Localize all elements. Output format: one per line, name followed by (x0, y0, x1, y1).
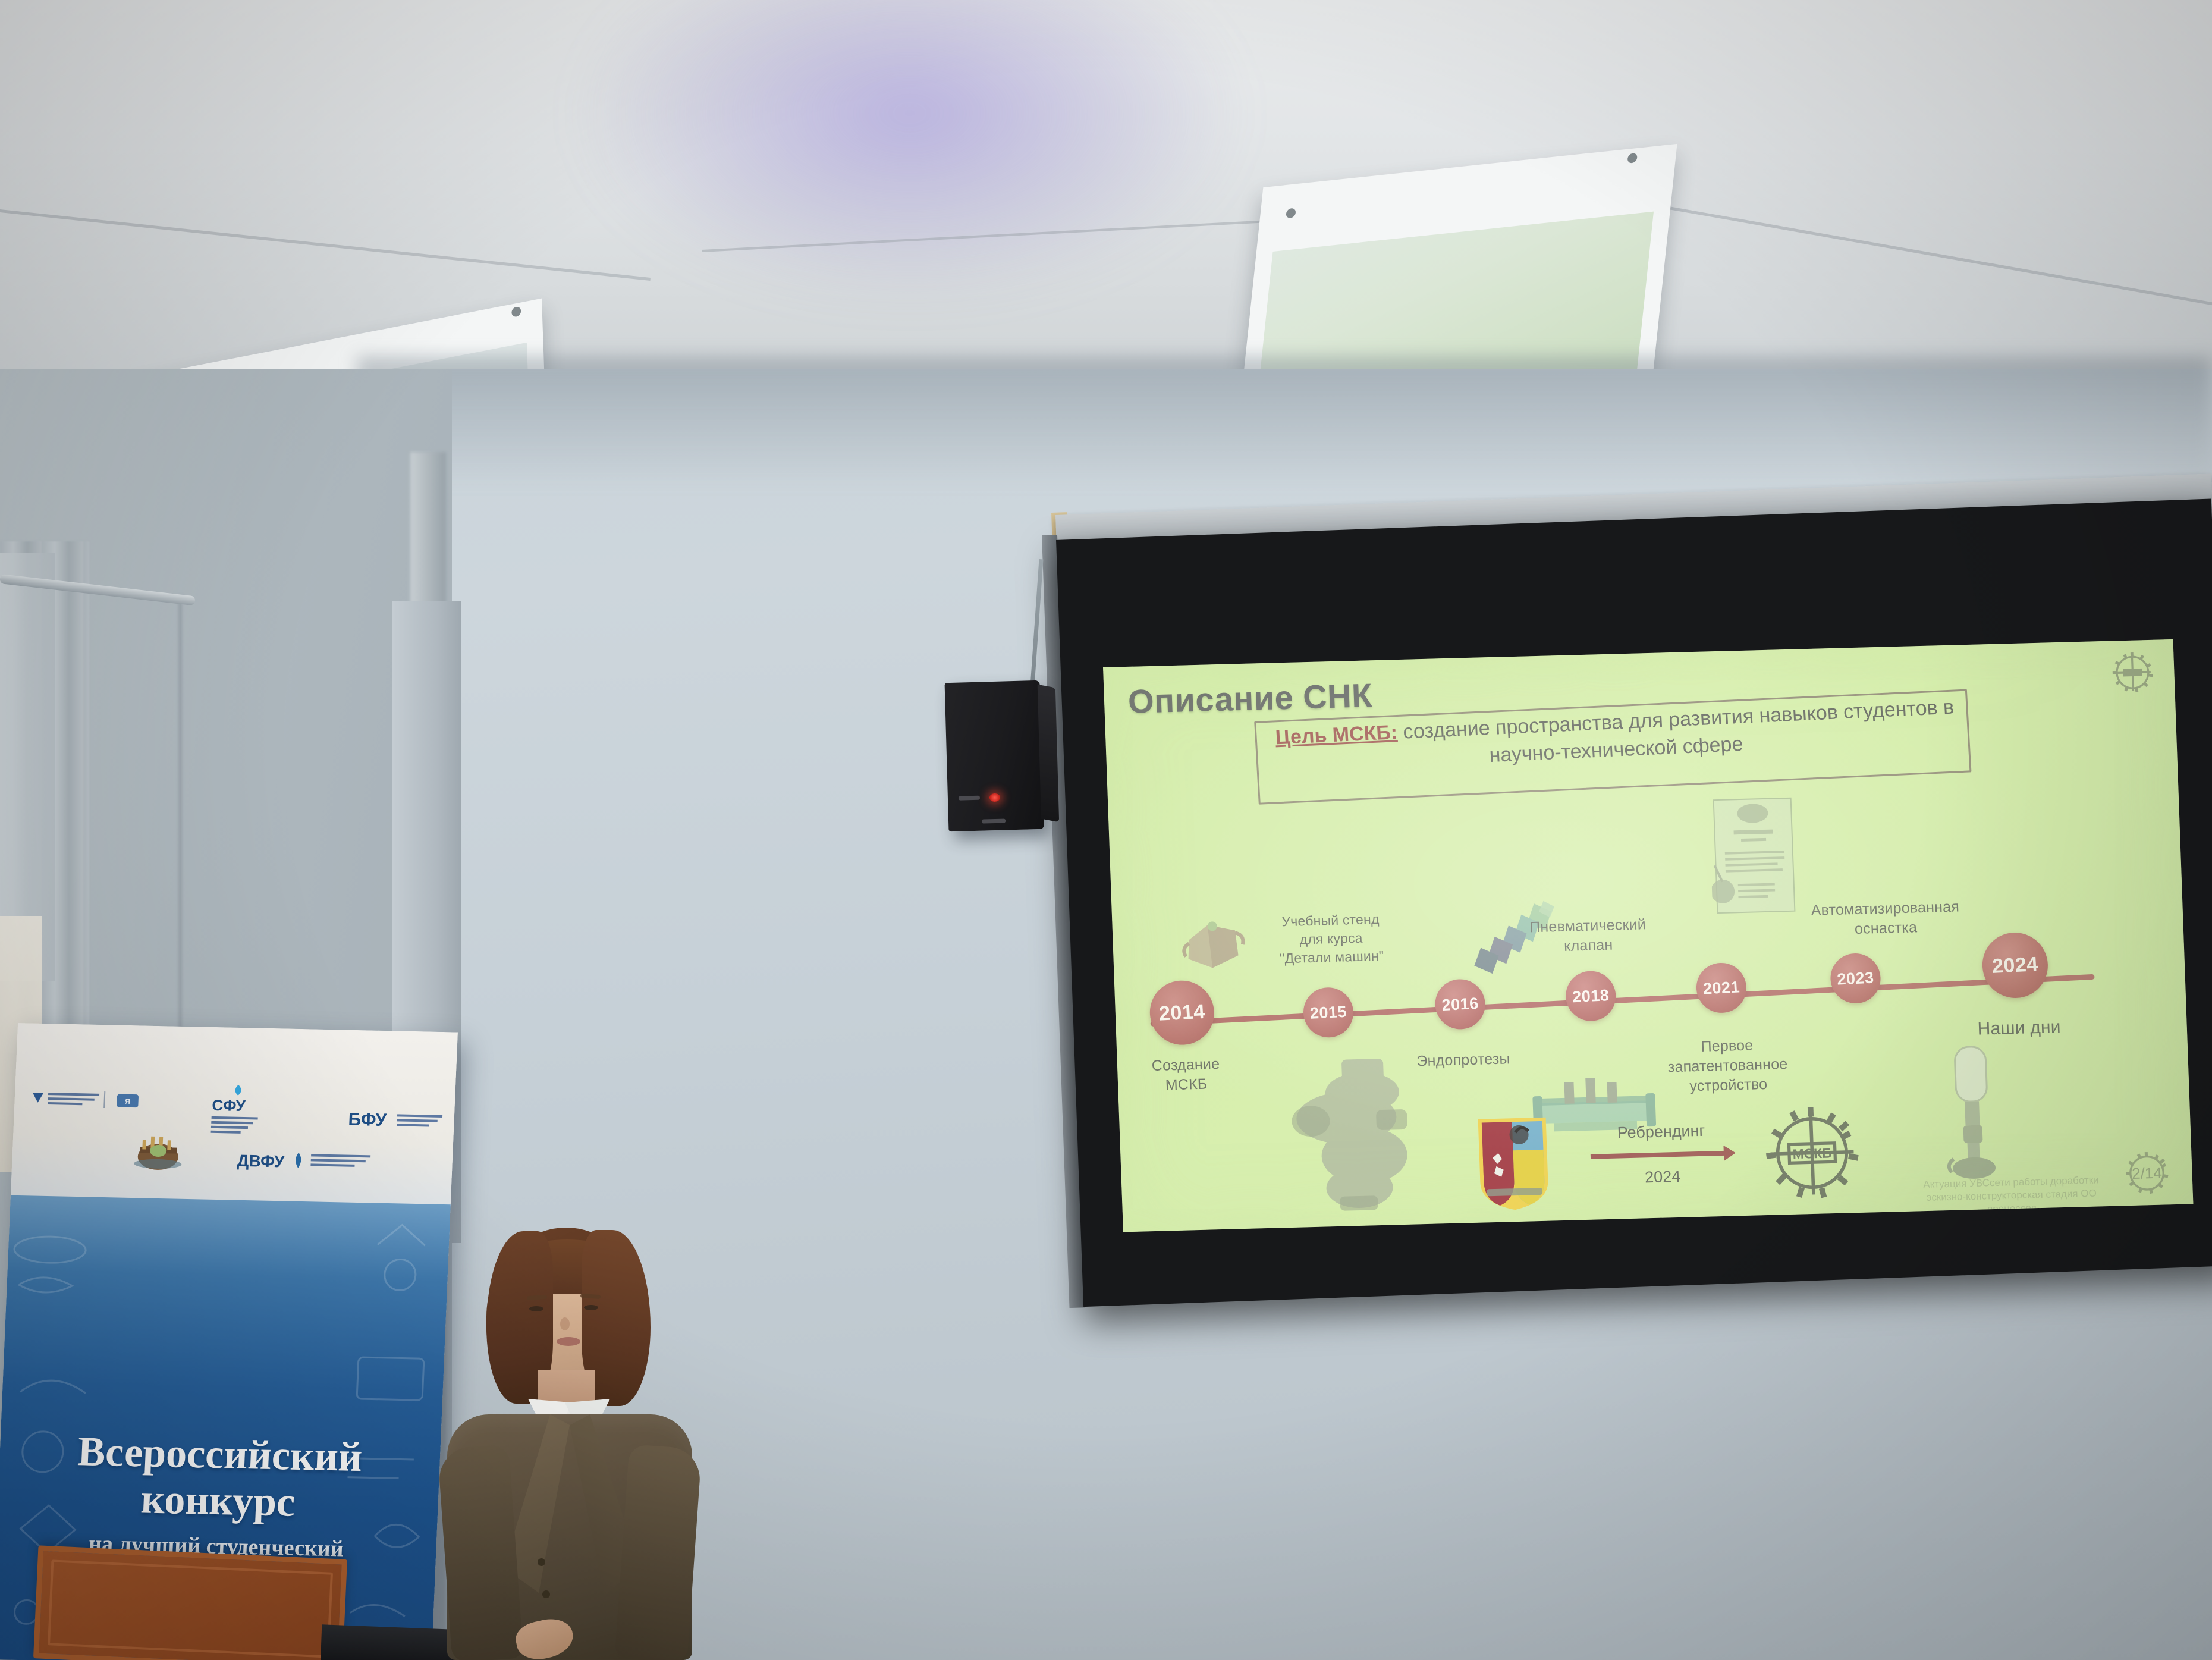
svg-text:Я: Я (125, 1097, 130, 1106)
presentation-room-photo: Описание СНК (0, 0, 2212, 1660)
rebranding-year: 2024 (1597, 1166, 1729, 1188)
projected-slide: Описание СНК (1103, 639, 2193, 1232)
banner-logo-sfu: СФУ (212, 1096, 246, 1115)
dvfu-wave-icon (290, 1151, 306, 1170)
speaker-vent (959, 796, 980, 801)
timeline-label-2014-below: Создание МСКБ (1130, 1054, 1242, 1096)
mskb-gear-icon (2108, 648, 2157, 697)
timeline-node-2018: 2018 (1564, 970, 1617, 1022)
speaker-side-panel (1038, 685, 1059, 822)
timeline-year: 2014 (1158, 1000, 1206, 1025)
speaker-power-led (989, 793, 1000, 802)
timeline-label-2021-below: Первое запатентованное устройство (1652, 1034, 1803, 1097)
timeline-node-2024: 2024 (1981, 931, 2050, 999)
banner-logo-row: Я (11, 1080, 455, 1202)
rebranding-arrow-icon (1591, 1151, 1727, 1159)
logo-divider (103, 1091, 105, 1108)
timeline-label-2018-above: Пневматический клапан (1519, 915, 1657, 958)
presenter-jacket-button (542, 1590, 550, 1598)
thumb-patent-certificate-2021 (1708, 793, 1802, 926)
timeline-label-2016-below: Эндопротезы (1396, 1049, 1530, 1072)
wall-shadow (357, 357, 2212, 488)
timeline-label-2015-above: Учебный стенд для курса "Детали машин" (1262, 909, 1400, 968)
thumb-automated-tooling-2023 (1936, 1041, 2013, 1197)
timeline-label-2023-above: Автоматизированная оснастка (1796, 897, 1975, 941)
rebranding-label: Ребрендинг (1595, 1121, 1727, 1143)
thumb-gearbox-2015 (1285, 1052, 1440, 1216)
presenter-arm-left (438, 1444, 524, 1660)
banner-title-line2: конкурс (0, 1473, 439, 1529)
secondary-emblem-icon: Я (114, 1090, 141, 1111)
presenter (410, 1225, 719, 1660)
timeline-node-2016: 2016 (1434, 978, 1487, 1030)
presenter-jacket-button (538, 1558, 545, 1566)
timeline-year: 2015 (1309, 1002, 1347, 1022)
slide-page-number: 2/14 (2121, 1147, 2173, 1198)
wooden-podium-panel (33, 1545, 347, 1660)
presenter-eye-right (584, 1305, 598, 1310)
presenter-arm-right (615, 1444, 702, 1660)
podium-panel-inner-frame (48, 1559, 333, 1658)
wall-mounted-speaker (945, 680, 1044, 831)
banner-logo-dvfu: ДВФУ (237, 1151, 285, 1172)
timeline-axis (1150, 974, 2094, 1027)
dvfu-text-bars (310, 1154, 370, 1169)
ministry-mark-icon (31, 1091, 45, 1104)
thumb-machine-part-2014 (1177, 912, 1251, 978)
presenter-eye-left (529, 1306, 543, 1311)
slide-page-badge: 2/14 (2121, 1147, 2173, 1198)
timeline-node-2023: 2023 (1829, 952, 1882, 1005)
timeline-label-2024-below: Наши дни (1953, 1016, 2085, 1040)
ministry-text-bars (48, 1093, 99, 1108)
timeline-year: 2016 (1441, 994, 1479, 1014)
timeline-year: 2018 (1572, 986, 1610, 1006)
timeline-year: 2023 (1837, 968, 1875, 989)
timeline-node-2015: 2015 (1302, 986, 1355, 1038)
timeline-year: 2021 (1702, 978, 1740, 998)
slide-title: Описание СНК (1127, 676, 1373, 721)
timeline-node-2014: 2014 (1148, 979, 1216, 1046)
timeline-year: 2024 (1991, 953, 2039, 978)
speaker-vent (982, 819, 1006, 824)
presenter-mouth (557, 1337, 580, 1346)
banner-logo-bfu: БФУ (348, 1110, 387, 1131)
timeline-node-2021: 2021 (1695, 962, 1748, 1014)
banner-title: Всероссийский конкурс (0, 1427, 441, 1529)
goal-label: Цель МСКБ: (1275, 721, 1398, 749)
bfu-text-bars (397, 1114, 442, 1129)
sfu-text-bars (210, 1116, 257, 1137)
svg-text:МСКБ: МСКБ (1792, 1145, 1832, 1162)
city-coat-of-arms-icon (1473, 1114, 1554, 1214)
presenter-nose (560, 1317, 570, 1330)
mskb-gear-logo-icon: МСКБ (1758, 1100, 1866, 1206)
regional-coat-of-arms-icon (128, 1126, 188, 1174)
